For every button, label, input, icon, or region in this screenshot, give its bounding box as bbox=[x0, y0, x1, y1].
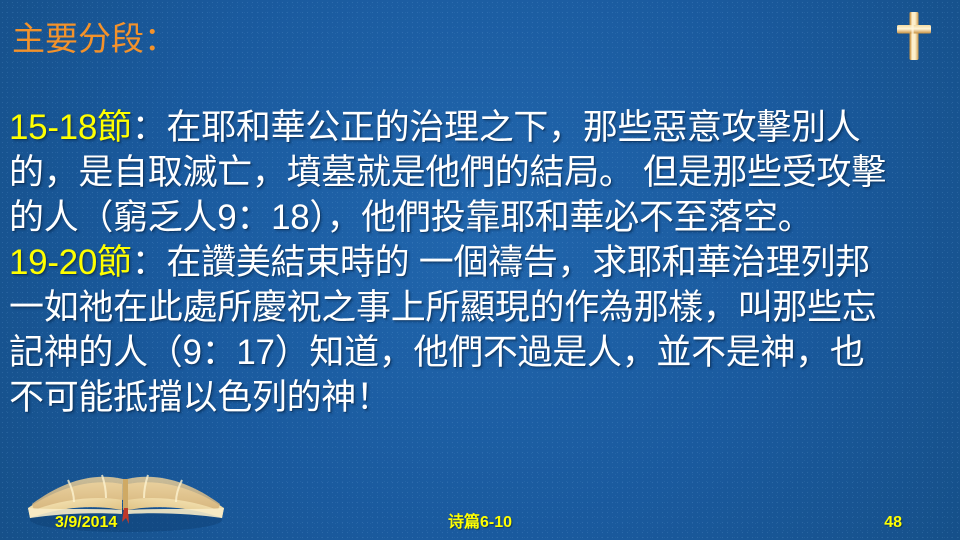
body-line: 的，是自取滅亡，墳墓就是他們的結局。 但是那些受攻擊 bbox=[9, 150, 955, 195]
body-line-text: 記神的人（9：17）知道，他們不過是人，並不是神，也 bbox=[9, 333, 865, 372]
body-line-text: 一如祂在此處所慶祝之事上所顯現的作為那樣，叫那些忘 bbox=[9, 288, 877, 327]
cross-icon bbox=[892, 8, 936, 64]
body-line: 19-20節：在讚美結束時的 一個禱告，求耶和華治理列邦 bbox=[9, 240, 955, 285]
body-line: 的人（窮乏人9：18），他們投靠耶和華必不至落空。 bbox=[9, 195, 955, 240]
verse-reference: 19-20節 bbox=[9, 243, 132, 282]
body-line-text: ：在耶和華公正的治理之下，那些惡意攻擊別人 bbox=[132, 108, 861, 147]
slide-body: 15-18節：在耶和華公正的治理之下，那些惡意攻擊別人 的，是自取滅亡，墳墓就是… bbox=[9, 105, 955, 420]
body-line: 不可能抵擋以色列的神！ bbox=[9, 375, 955, 420]
body-line: 15-18節：在耶和華公正的治理之下，那些惡意攻擊別人 bbox=[9, 105, 955, 150]
footer-page-number: 48 bbox=[884, 514, 902, 532]
body-line-text: 的人（窮乏人9：18），他們投靠耶和華必不至落空。 bbox=[9, 198, 812, 237]
footer-topic: 诗篇6-10 bbox=[0, 508, 960, 532]
verse-reference: 15-18節 bbox=[9, 108, 132, 147]
presentation-slide: 主要分段： 15-18節：在耶和華公正的治理之下，那些惡意攻擊別人 的，是自取滅… bbox=[0, 0, 960, 540]
body-line-text: 的，是自取滅亡，墳墓就是他們的結局。 但是那些受攻擊 bbox=[9, 153, 886, 192]
body-line: 記神的人（9：17）知道，他們不過是人，並不是神，也 bbox=[9, 330, 955, 375]
body-line-text: ：在讚美結束時的 一個禱告，求耶和華治理列邦 bbox=[132, 243, 870, 282]
body-line: 一如祂在此處所慶祝之事上所顯現的作為那樣，叫那些忘 bbox=[9, 285, 955, 330]
page-title: 主要分段： bbox=[12, 19, 177, 59]
body-line-text: 不可能抵擋以色列的神！ bbox=[9, 378, 391, 417]
